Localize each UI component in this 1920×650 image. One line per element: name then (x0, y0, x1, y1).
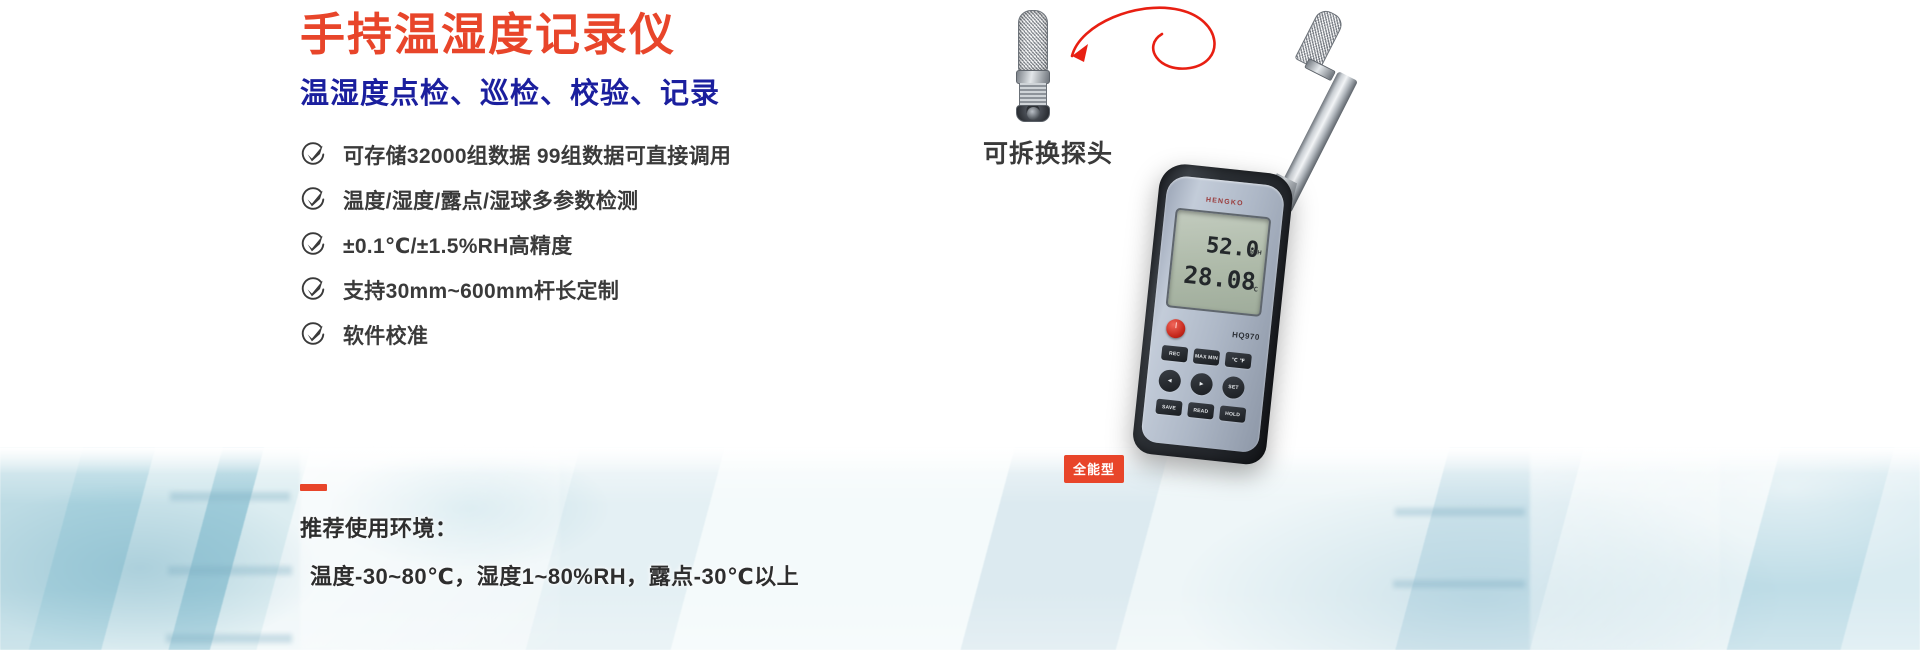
key-label: ◀ (1159, 377, 1182, 385)
product-device: HENGKO 52.0 %RH 28.08 ℃ HQ970 REC MAX MI… (1080, 0, 1380, 520)
feature-label: 支持30mm~600mm杆长定制 (343, 275, 619, 305)
status-badge: 全能型 (1064, 455, 1124, 483)
feature-label: 温度/湿度/露点/湿球多参数检测 (343, 185, 638, 215)
band-top-fade (0, 448, 1920, 474)
check-circle-icon (300, 321, 327, 348)
model-number-label: HQ970 (1232, 330, 1261, 342)
probe-mesh-filter (1018, 10, 1048, 72)
probe-collar (1016, 70, 1050, 84)
product-banner: 手持温湿度记录仪 温湿度点检、巡检、校验、记录 可存储32000组数据 99组数… (0, 0, 1920, 650)
feature-item: 可存储32000组数据 99组数据可直接调用 (300, 132, 1060, 177)
check-circle-icon (300, 186, 327, 213)
key-rec[interactable]: REC (1161, 345, 1188, 363)
key-maxmin[interactable]: MAX MIN (1193, 348, 1220, 366)
feature-item: 支持30mm~600mm杆长定制 (300, 267, 1060, 312)
banner-subheadline: 温湿度点检、巡检、校验、记录 (300, 80, 720, 109)
key-right[interactable]: ▶ (1190, 372, 1214, 396)
feature-label: 软件校准 (343, 320, 428, 350)
probe-sensor-mesh-tip (1294, 7, 1345, 71)
key-label: SAVE (1156, 403, 1182, 412)
key-label: SET (1222, 383, 1245, 391)
recommendation-dash-marker (300, 484, 327, 491)
key-unit[interactable]: ℃ ℉ (1225, 352, 1252, 370)
key-label: ℃ ℉ (1225, 356, 1251, 365)
key-left[interactable]: ◀ (1158, 369, 1182, 393)
feature-item: 温度/湿度/露点/湿球多参数检测 (300, 177, 1060, 222)
banner-headline: 手持温湿度记录仪 (300, 12, 676, 57)
check-circle-icon (300, 231, 327, 258)
brand-logo: HENGKO (1206, 197, 1244, 208)
lcd-display: 52.0 %RH 28.08 ℃ (1165, 208, 1271, 317)
temperature-reading: 28.08 (1182, 263, 1256, 294)
recommendation-title: 推荐使用环境： (300, 518, 799, 540)
feature-label: 可存储32000组数据 99组数据可直接调用 (343, 140, 731, 170)
probe-thread (1019, 83, 1047, 107)
key-hold[interactable]: HOLD (1219, 405, 1246, 423)
key-label: ▶ (1190, 380, 1213, 388)
device-body: HENGKO 52.0 %RH 28.08 ℃ HQ970 REC MAX MI… (1131, 162, 1295, 466)
device-faceplate: HENGKO 52.0 %RH 28.08 ℃ HQ970 REC MAX MI… (1140, 175, 1285, 454)
power-icon[interactable] (1165, 318, 1186, 339)
key-read[interactable]: READ (1187, 402, 1214, 420)
feature-item: 软件校准 (300, 312, 1060, 357)
device-keypad: REC MAX MIN ℃ ℉ ◀ ▶ SET SAVE READ HOLD (1150, 345, 1259, 451)
recommendation-block: 推荐使用环境： 温度-30~80℃，湿度1~80%RH，露点-30℃以上 (300, 518, 799, 588)
check-circle-icon (300, 141, 327, 168)
key-label: READ (1188, 406, 1214, 415)
humidity-reading: 52.0 (1205, 235, 1260, 262)
recommendation-detail: 温度-30~80℃，湿度1~80%RH，露点-30℃以上 (300, 566, 799, 588)
check-circle-icon (300, 276, 327, 303)
key-set[interactable]: SET (1221, 375, 1245, 399)
key-label: HOLD (1219, 410, 1245, 419)
key-save[interactable]: SAVE (1155, 399, 1182, 417)
temperature-unit-label: ℃ (1251, 284, 1258, 294)
feature-label: ±0.1℃/±1.5%RH高精度 (343, 230, 573, 260)
feature-list: 可存储32000组数据 99组数据可直接调用 温度/湿度/露点/湿球多参数检测 … (300, 132, 1060, 357)
key-label: MAX MIN (1193, 353, 1219, 362)
lower-background-photo (0, 448, 1920, 650)
probe-connector-endcap (1016, 105, 1050, 122)
key-label: REC (1161, 349, 1187, 358)
feature-item: ±0.1℃/±1.5%RH高精度 (300, 222, 1060, 267)
